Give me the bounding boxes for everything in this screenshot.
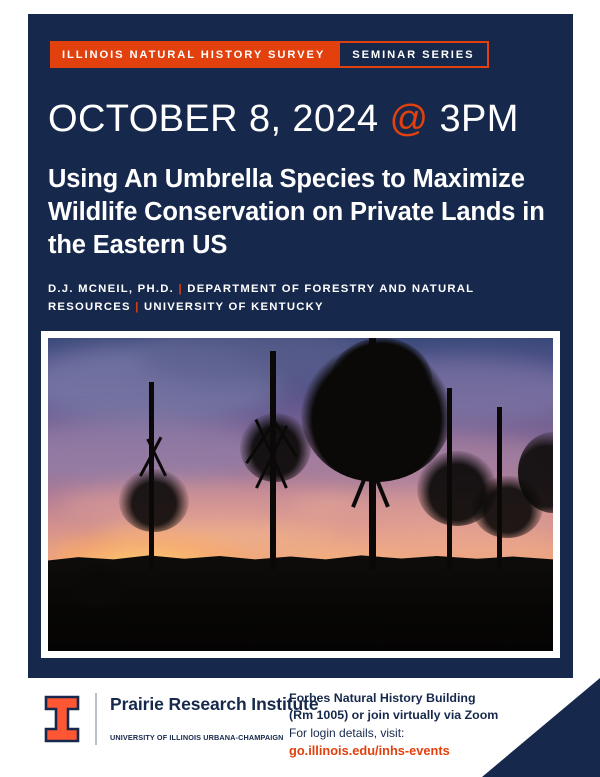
venue-room: (Rm 1005) or join virtually via Zoom [289,707,549,724]
banner-primary: ILLINOIS NATURAL HISTORY SURVEY [50,41,338,68]
tree-canopy [68,563,129,607]
date-after: 3PM [429,98,519,140]
footer-divider [95,693,97,745]
block-i-logo [42,695,82,743]
at-symbol: @ [390,98,429,140]
tree-trunk [369,338,377,570]
tree-canopy [240,413,311,482]
event-url[interactable]: go.illinois.edu/inhs-events [289,742,549,760]
banner-secondary: SEMINAR SERIES [338,41,488,68]
photo-frame [41,331,560,658]
tree-canopy [331,338,432,419]
tree-canopy [119,469,190,532]
banner-secondary-label: SEMINAR SERIES [352,49,474,61]
event-date-time: OCTOBER 8, 2024 @ 3PM [48,98,519,141]
venue-details: Forbes Natural History Building (Rm 1005… [289,690,549,760]
venue-building: Forbes Natural History Building [289,690,549,707]
header-banner: ILLINOIS NATURAL HISTORY SURVEY SEMINAR … [50,41,489,68]
speaker-institution: UNIVERSITY OF KENTUCKY [144,301,324,313]
seminar-poster: ILLINOIS NATURAL HISTORY SURVEY SEMINAR … [0,0,600,777]
speaker-credit: D.J. MCNEIL, PH.D. | DEPARTMENT OF FORES… [48,281,558,316]
banner-primary-label: ILLINOIS NATURAL HISTORY SURVEY [62,49,325,61]
seminar-title: Using An Umbrella Species to Maximize Wi… [48,163,568,262]
date-before: OCTOBER 8, 2024 [48,98,390,140]
organization-tagline: UNIVERSITY OF ILLINOIS URBANA-CHAMPAIGN [110,733,284,742]
speaker-name: D.J. MCNEIL, PH.D. [48,283,174,295]
login-instructions: For login details, visit: [289,725,549,742]
organization-name: Prairie Research Institute [110,694,318,715]
speaker-separator-1: | [174,283,187,295]
speaker-separator-2: | [131,301,144,313]
sunset-forest-photo [48,338,553,651]
